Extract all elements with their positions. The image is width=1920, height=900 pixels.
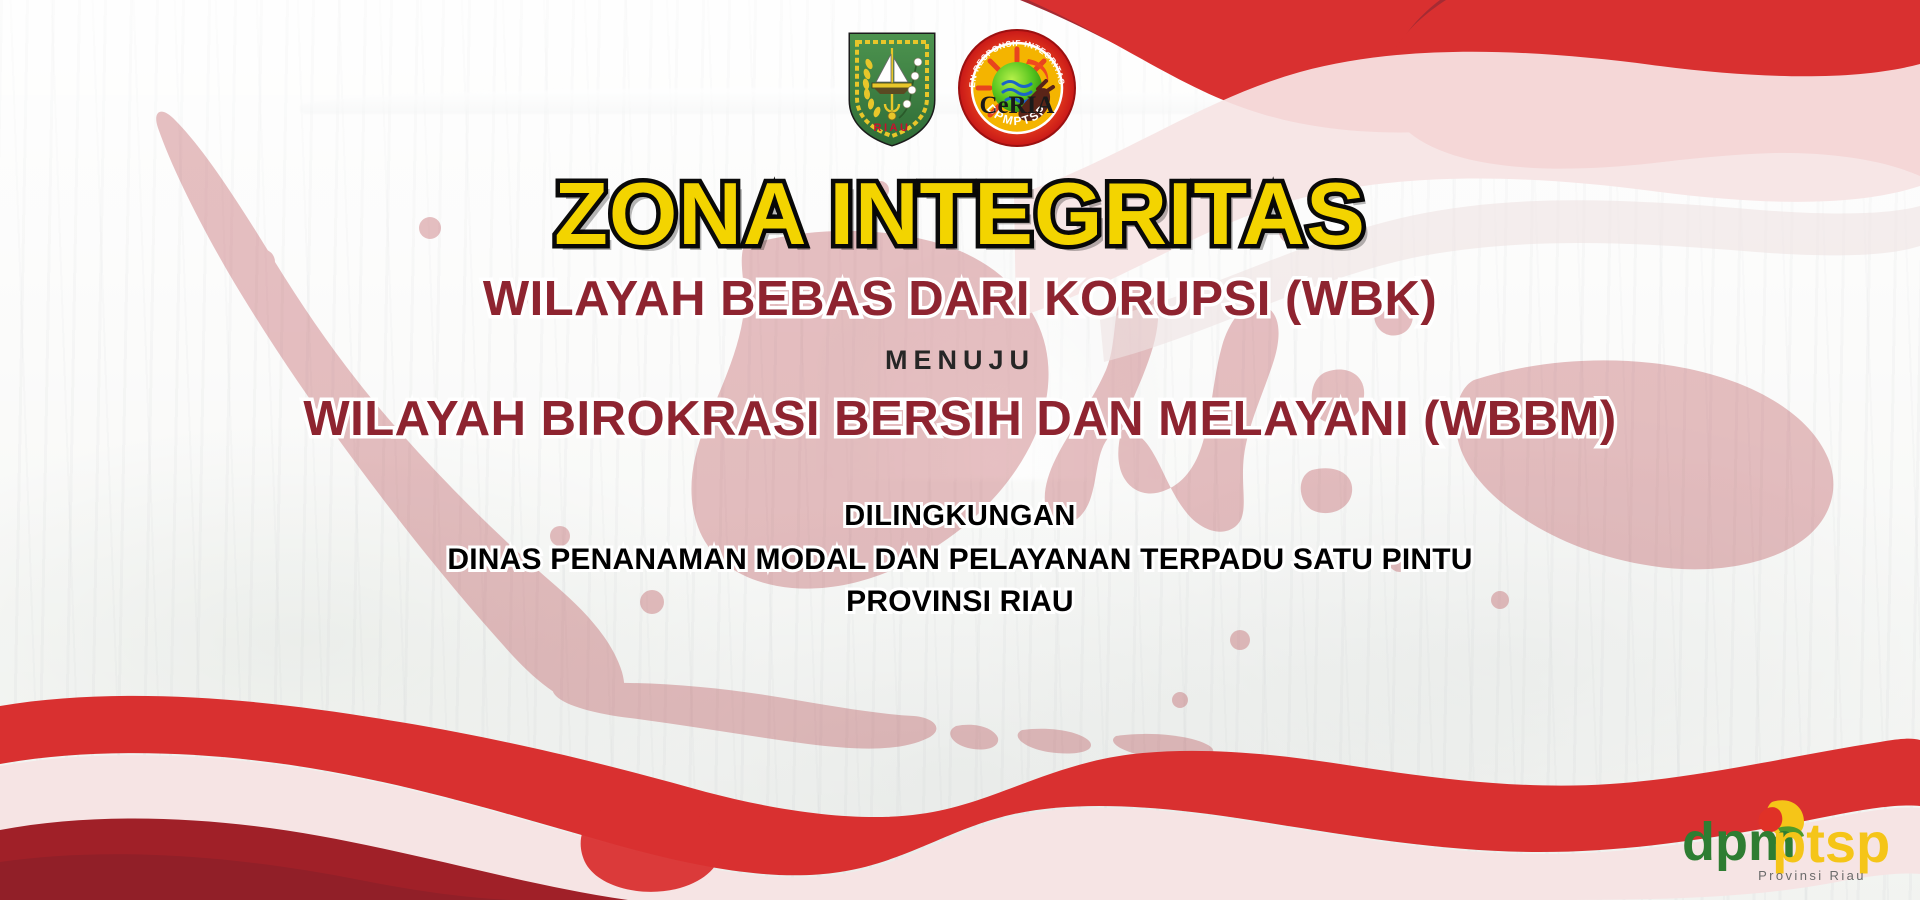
connector-menuju: MENUJU [885,345,1035,376]
dpmptsp-ptsp-text: ptsp [1772,811,1890,874]
footer-line-provinsi: PROVINSI RIAU [447,583,1472,621]
dpmptsp-logo: dpm ptsp Provinsi Riau [1644,790,1894,886]
footer-line-dinas: DINAS PENANAMAN MODAL DAN PELAYANAN TERP… [447,541,1472,579]
subhead-wbbm: WILAYAH BIROKRASI BERSIH DAN MELAYANI (W… [303,394,1616,445]
dpmptsp-tagline: Provinsi Riau [1758,868,1866,883]
headline-zona-integritas: ZONA INTEGRITAS [554,170,1366,258]
logo-row: RIAU [844,28,1076,148]
subhead-wbk: WILAYAH BEBAS DARI KORUPSI (WBK) [483,274,1437,325]
riau-crest-caption: RIAU [874,122,911,134]
footer-text-block: DILINGKUNGAN DINAS PENANAMAN MODAL DAN P… [447,498,1472,622]
ceria-center-text: CeRIA [980,92,1055,119]
banner-content: RIAU [0,0,1920,900]
footer-line-dilingkungan: DILINGKUNGAN [447,498,1472,535]
zona-integritas-banner: RIAU [0,0,1920,900]
ceria-seal-icon: CEPAT EFISIEN RESPONSIF INTEGRITAS AKUNT… [958,29,1076,147]
riau-crest-icon: RIAU [844,28,940,148]
